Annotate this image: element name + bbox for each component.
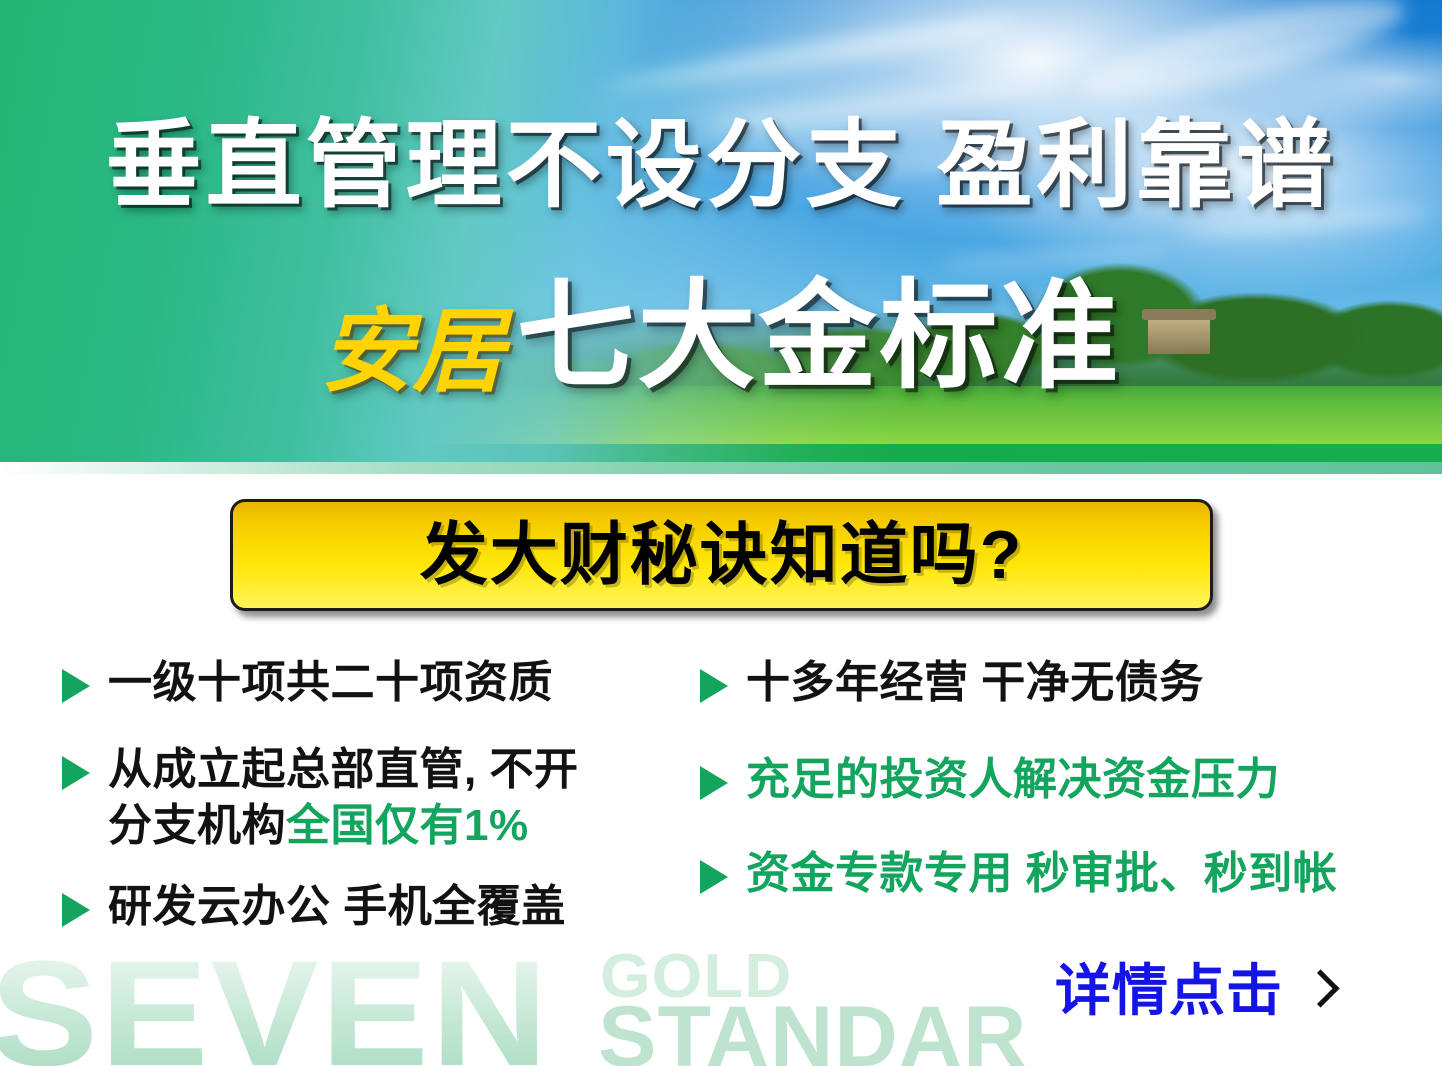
details-cta-button[interactable]: 详情点击 [1055, 963, 1337, 1019]
list-item-highlight: 全国仅有1% [286, 801, 529, 850]
list-item-line2: 分支机构 [108, 801, 286, 850]
features-right-column: 十多年经营 干净无债务 充足的投资人解决资金压力 资金专款专用 秒审批、秒到帐 [700, 655, 1400, 931]
triangle-bullet-icon [62, 756, 90, 790]
highlight-banner-label: 发大财秘诀知道吗? [420, 521, 1024, 589]
hero-divider [0, 462, 1442, 474]
triangle-bullet-icon [62, 669, 90, 703]
triangle-bullet-icon [62, 893, 90, 927]
hero-subheadline-main: 七大金标准 [517, 271, 1122, 403]
chevron-right-icon [1303, 965, 1337, 1017]
list-item: 研发云办公 手机全覆盖 [62, 879, 682, 934]
highlight-banner[interactable]: 发大财秘诀知道吗? [230, 499, 1213, 611]
list-item: 充足的投资人解决资金压力 [700, 752, 1400, 807]
list-item-label: 充足的投资人解决资金压力 [746, 752, 1280, 807]
watermark-standards: STANDARDS [598, 994, 1030, 1066]
list-item: 从成立起总部直管, 不开 分支机构全国仅有1% [62, 742, 682, 853]
list-item: 十多年经营 干净无债务 [700, 655, 1400, 710]
list-item-label: 从成立起总部直管, 不开 分支机构全国仅有1% [108, 742, 578, 853]
list-item-label: 研发云办公 手机全覆盖 [108, 879, 566, 934]
details-cta-label: 详情点击 [1055, 963, 1283, 1019]
list-item-label: 一级十项共二十项资质 [108, 655, 553, 710]
list-item-label: 资金专款专用 秒审批、秒到帐 [746, 846, 1337, 901]
promo-banner: 垂直管理不设分支 盈利靠谱 安居七大金标准 发大财秘诀知道吗? 一级十项共二十项… [0, 0, 1442, 1066]
list-item-line1: 从成立起总部直管, 不开 [108, 745, 578, 794]
hero-subheadline: 安居七大金标准 [0, 278, 1442, 398]
list-item: 资金专款专用 秒审批、秒到帐 [700, 846, 1400, 901]
list-item: 一级十项共二十项资质 [62, 655, 682, 710]
triangle-bullet-icon [700, 766, 728, 800]
hero-headline: 垂直管理不设分支 盈利靠谱 [0, 118, 1442, 214]
features-left-column: 一级十项共二十项资质 从成立起总部直管, 不开 分支机构全国仅有1% 研发云办公… [62, 655, 682, 965]
triangle-bullet-icon [700, 860, 728, 894]
features-section: 一级十项共二十项资质 从成立起总部直管, 不开 分支机构全国仅有1% 研发云办公… [0, 655, 1442, 985]
triangle-bullet-icon [700, 669, 728, 703]
brand-name: 安居 [320, 301, 504, 403]
list-item-label: 十多年经营 干净无债务 [746, 655, 1204, 710]
hero-section: 垂直管理不设分支 盈利靠谱 安居七大金标准 [0, 0, 1442, 462]
